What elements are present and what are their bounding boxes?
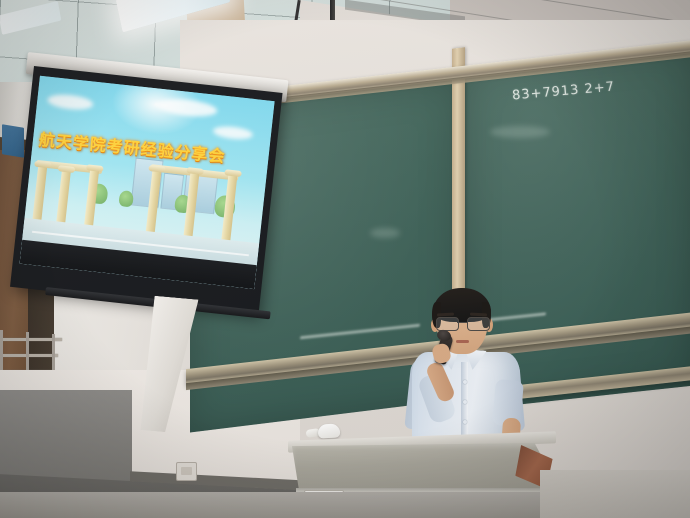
chalk-smudge <box>490 126 550 138</box>
blue-wall-sign <box>2 124 24 157</box>
slide-column-cap <box>58 165 76 173</box>
projector-screen[interactable]: 航天学院考研经验分享会 <box>10 66 283 314</box>
wall-outlet[interactable] <box>176 462 197 481</box>
projected-slide: 航天学院考研经验分享会 <box>20 76 275 289</box>
glasses-bridge <box>457 322 467 323</box>
slide-column-cap <box>34 161 52 169</box>
handrail-bar <box>0 354 58 357</box>
shirt-button <box>463 400 467 404</box>
eyeglasses <box>434 317 490 329</box>
lens-left <box>436 317 459 331</box>
lens-right <box>467 317 490 331</box>
shirt-button <box>463 380 467 384</box>
mouth <box>456 340 469 343</box>
classroom-photo: 83+7913 2+7 航天学院考研经验分享会 <box>0 0 690 518</box>
slide-column <box>56 170 71 225</box>
slide-column <box>32 165 47 222</box>
floor-right-area <box>540 470 690 518</box>
chalk-smudge <box>370 228 400 238</box>
shirt-button <box>463 420 467 424</box>
